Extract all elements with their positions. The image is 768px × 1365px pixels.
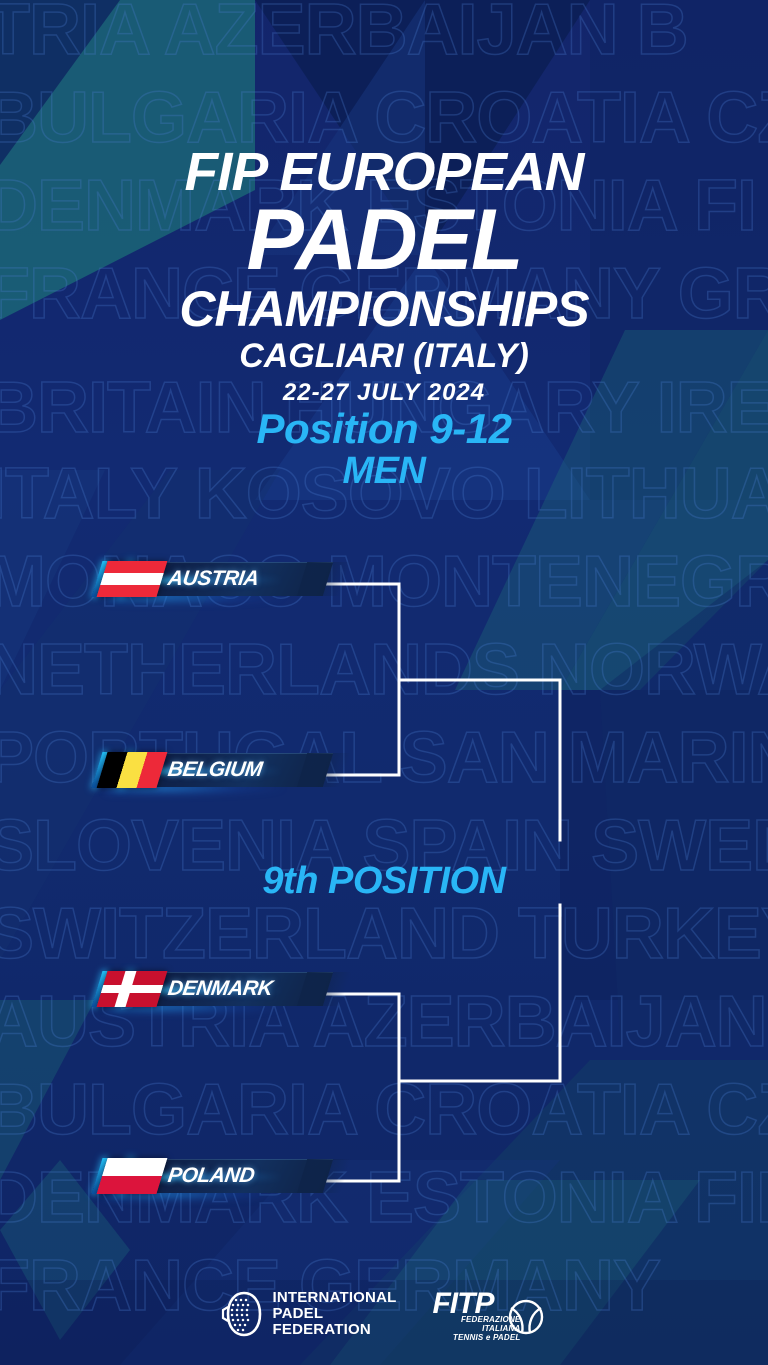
event-dates: 22-27 JULY 2024 — [0, 380, 768, 406]
footer-logos: INTERNATIONAL PADEL FEDERATION FITP FEDE… — [0, 1285, 768, 1343]
flag-icon-belgium — [96, 752, 167, 788]
ipf-line-3: FEDERATION — [273, 1322, 397, 1338]
bracket-subtitle: Position 9-12 MEN — [0, 406, 768, 492]
tennis-ball-icon — [506, 1297, 546, 1337]
ninth-position-text: 9th POSITION — [262, 860, 505, 902]
ipf-line-2: PADEL — [273, 1306, 397, 1322]
title-line-championships: CHAMPIONSHIPS — [0, 284, 768, 334]
ipf-line-1: INTERNATIONAL — [273, 1290, 397, 1306]
tournament-bracket-poster: TRIA AZERBAIJAN B BULGARIA CROATIA CZE D… — [0, 0, 768, 1365]
flag-icon-poland — [96, 1158, 167, 1194]
team-plate-austria[interactable]: AUSTRIA — [96, 560, 328, 600]
title-line-fip-european: FIP EUROPEAN — [0, 146, 768, 198]
team-name-label: POLAND — [166, 1163, 256, 1189]
flag-icon-denmark — [96, 971, 167, 1007]
team-name-label: BELGIUM — [166, 757, 264, 783]
final-position-label: 9th POSITION — [0, 860, 768, 902]
team-plate-belgium[interactable]: BELGIUM — [96, 751, 328, 791]
event-title-block: FIP EUROPEAN PADEL CHAMPIONSHIPS CAGLIAR… — [0, 146, 768, 406]
ipf-wordmark: INTERNATIONAL PADEL FEDERATION — [273, 1290, 397, 1338]
team-name-label: AUSTRIA — [166, 566, 260, 592]
logo-international-padel-federation[interactable]: INTERNATIONAL PADEL FEDERATION — [220, 1290, 397, 1338]
category-label: MEN — [0, 450, 768, 492]
flag-icon-austria — [96, 561, 167, 597]
team-plate-denmark[interactable]: DENMARK — [96, 970, 328, 1010]
team-plate-poland[interactable]: POLAND — [96, 1157, 328, 1197]
padel-racket-icon — [220, 1290, 264, 1338]
event-location: CAGLIARI (ITALY) — [0, 338, 768, 374]
team-name-label: DENMARK — [166, 976, 274, 1002]
position-range-label: Position 9-12 — [0, 406, 768, 452]
title-line-padel: PADEL — [0, 200, 768, 280]
logo-fitp[interactable]: FITP FEDERAZIONE ITALIANA TENNIS e PADEL — [430, 1285, 548, 1343]
